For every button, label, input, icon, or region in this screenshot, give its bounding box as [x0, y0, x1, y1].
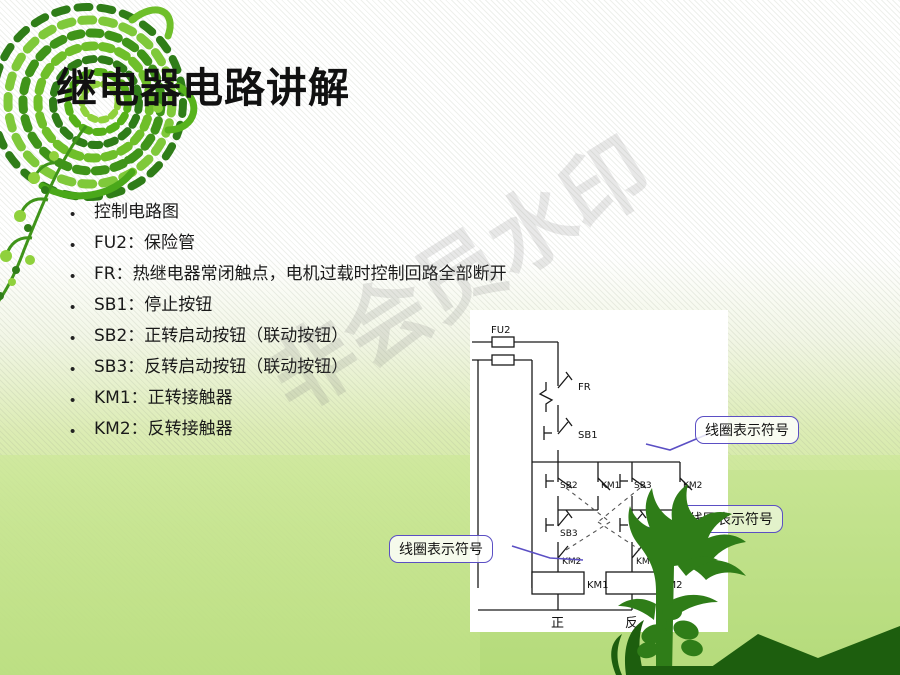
bullet-marker: •: [70, 359, 94, 381]
bullet-text: SB3：反转启动按钮（联动按钮）: [94, 359, 348, 377]
slide-canvas: 继电器电路讲解 • 控制电路图 • FU2：保险管 • FR：热继电器常闭触点，…: [0, 0, 900, 675]
bullet-marker: •: [70, 297, 94, 319]
bullet-text: KM2：反转接触器: [94, 421, 233, 439]
list-item: • FR：热继电器常闭触点，电机过载时控制回路全部断开: [70, 266, 690, 288]
label-thermal-relay: FR: [578, 382, 591, 393]
hill-silhouette: [700, 620, 900, 675]
bullet-marker: •: [70, 235, 94, 257]
label-stop-button: SB1: [578, 430, 598, 441]
bullet-text: FU2：保险管: [94, 235, 195, 253]
bullet-text: SB2：正转启动按钮（联动按钮）: [94, 328, 348, 346]
bullet-text: FR：热继电器常闭触点，电机过载时控制回路全部断开: [94, 266, 507, 284]
bullet-marker: •: [70, 421, 94, 443]
bullet-marker: •: [70, 328, 94, 350]
bullet-text: SB1：停止按钮: [94, 297, 212, 315]
bullet-marker: •: [70, 390, 94, 412]
callout-coil-symbol-right-upper[interactable]: 线圈表示符号: [695, 416, 799, 444]
callout-coil-symbol-left[interactable]: 线圈表示符号: [389, 535, 493, 563]
slide-title: 继电器电路讲解: [56, 54, 350, 114]
list-item: • 控制电路图: [70, 204, 690, 226]
bullet-text: 控制电路图: [94, 204, 179, 222]
list-item: • FU2：保险管: [70, 235, 690, 257]
label-fuse-top: FU2: [491, 325, 510, 336]
bullet-marker: •: [70, 204, 94, 226]
bullet-marker: •: [70, 266, 94, 288]
bullet-text: KM1：正转接触器: [94, 390, 233, 408]
